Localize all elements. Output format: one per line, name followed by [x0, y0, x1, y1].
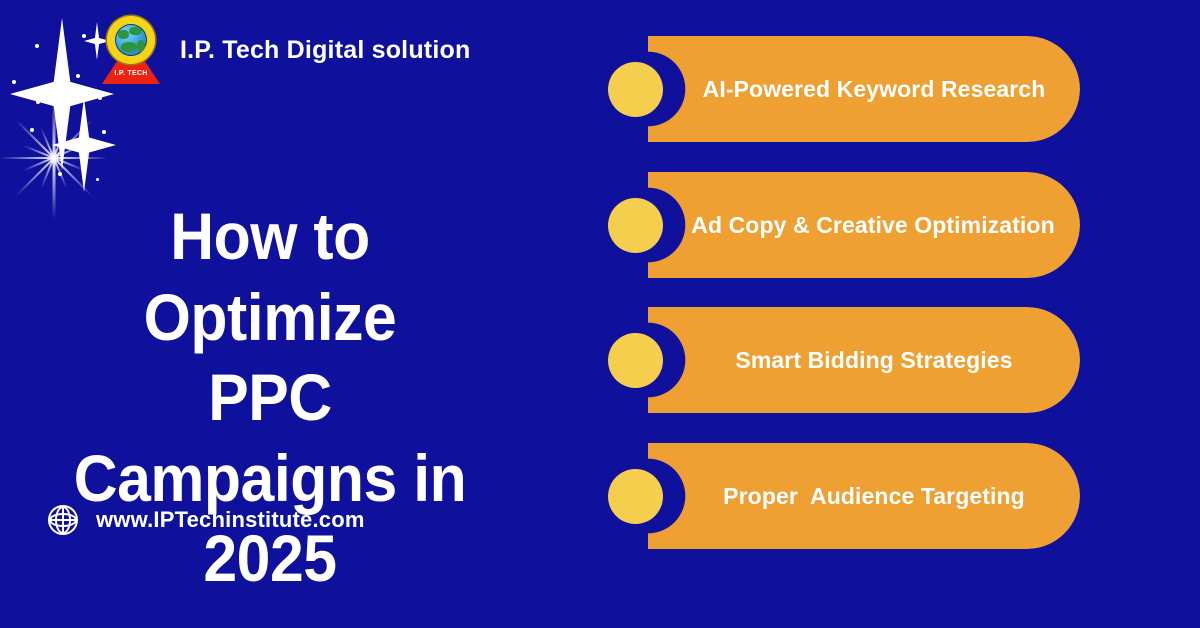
- feature-card-label: AI-Powered Keyword Research: [676, 36, 1072, 142]
- feature-card-label: Smart Bidding Strategies: [676, 307, 1072, 413]
- feature-card-bullet-circle: [608, 333, 663, 388]
- feature-card-bullet-circle: [608, 469, 663, 524]
- feature-card-label: Proper Audience Targeting: [676, 443, 1072, 549]
- feature-card-label: Ad Copy & Creative Optimization: [666, 172, 1080, 278]
- feature-card[interactable]: AI-Powered Keyword Research: [608, 36, 1080, 142]
- feature-card[interactable]: Smart Bidding Strategies: [608, 307, 1080, 413]
- poster-canvas: I.P. TECH I.P. Tech Digital solution How…: [0, 0, 1200, 628]
- feature-card-bullet-circle: [608, 198, 663, 253]
- feature-card-list: AI-Powered Keyword Research Ad Copy & Cr…: [0, 0, 1200, 628]
- feature-card[interactable]: Ad Copy & Creative Optimization: [608, 172, 1080, 278]
- feature-card[interactable]: Proper Audience Targeting: [608, 443, 1080, 549]
- feature-card-bullet-circle: [608, 62, 663, 117]
